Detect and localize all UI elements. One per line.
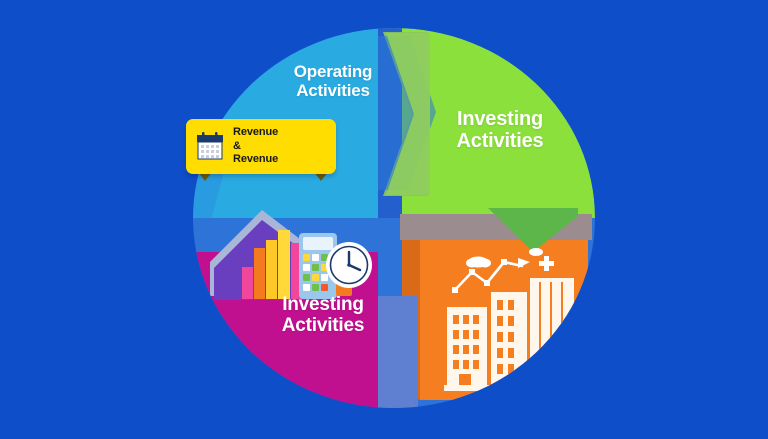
revenue-callout-card[interactable]: Revenue & Revenue [186,119,336,174]
calendar-icon [195,131,225,162]
arrow-cyan-to-green [378,30,436,208]
clock-icon [326,242,372,288]
cycle-ring [180,18,610,422]
revenue-card-text: Revenue & Revenue [233,126,278,166]
cash-flow-cycle-diagram [0,0,768,439]
arrow-orange-to-magenta [378,296,418,408]
diagram-canvas: Operating Activities Investing Activitie… [0,0,768,439]
